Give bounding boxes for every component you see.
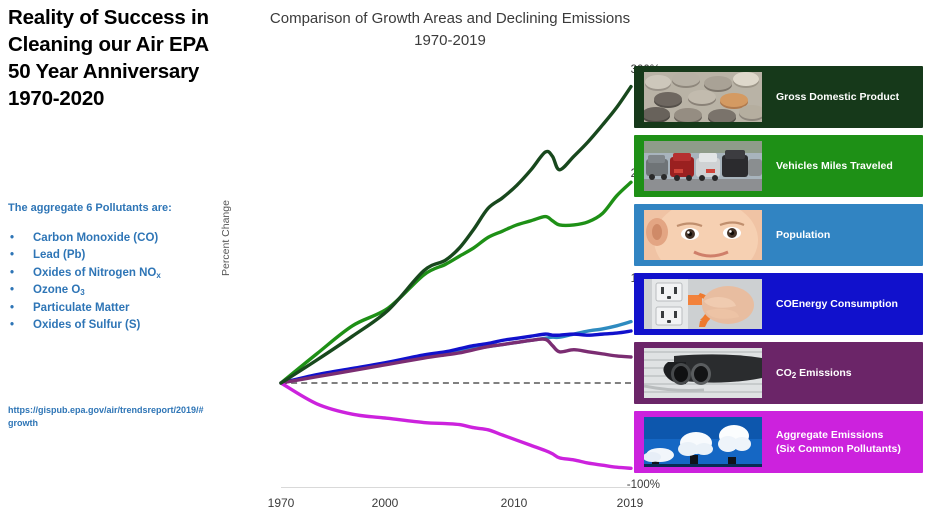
bullet-icon: •	[10, 282, 14, 299]
x-tick-2019: 2019	[600, 496, 660, 510]
legend-label: Gross Domestic Product	[776, 90, 899, 104]
legend-label: Vehicles Miles Traveled	[776, 159, 893, 173]
traffic-photo-icon	[644, 141, 762, 191]
legend-item-co2[interactable]: CO2 Emissions	[634, 342, 923, 404]
x-tick-2000: 2000	[355, 496, 415, 510]
exhaust-photo-icon	[644, 348, 762, 398]
x-tick-1970: 1970	[251, 496, 311, 510]
chart-plot	[200, 0, 660, 528]
list-item-label: Particulate Matter	[33, 302, 130, 314]
source-url-link[interactable]: https://gispub.epa.gov/air/trendsreport/…	[8, 404, 208, 430]
coins-photo-icon	[644, 72, 762, 122]
bullet-icon: •	[10, 265, 14, 282]
list-item-label: Ozone O3	[33, 284, 85, 296]
plug-photo-icon	[644, 279, 762, 329]
list-item-label: Oxides of Nitrogen NOx	[33, 267, 161, 279]
chart-legend: Gross Domestic Product	[634, 66, 923, 480]
legend-label: COEnergy Consumption	[776, 297, 898, 311]
legend-item-gdp[interactable]: Gross Domestic Product	[634, 66, 923, 128]
bullet-icon: •	[10, 247, 14, 264]
list-item-label: Lead (Pb)	[33, 249, 85, 261]
legend-label: CO2 Emissions	[776, 366, 852, 380]
list-item-label: Carbon Monoxide (CO)	[33, 232, 158, 244]
series-line	[281, 383, 631, 468]
bullet-icon: •	[10, 230, 14, 247]
bullet-icon: •	[10, 317, 14, 334]
legend-label: Aggregate Emissions (Six Common Pollutan…	[776, 428, 901, 456]
smokestack-photo-icon	[644, 417, 762, 467]
series-line	[281, 339, 631, 383]
x-tick-2010: 2010	[484, 496, 544, 510]
list-item-label: Oxides of Sulfur (S)	[33, 319, 140, 331]
legend-item-vmt[interactable]: Vehicles Miles Traveled	[634, 135, 923, 197]
baby-photo-icon	[644, 210, 762, 260]
bullet-icon: •	[10, 300, 14, 317]
legend-label-line1: Aggregate Emissions	[776, 428, 901, 442]
legend-item-aggregate-emissions[interactable]: Aggregate Emissions (Six Common Pollutan…	[634, 411, 923, 473]
legend-item-energy[interactable]: COEnergy Consumption	[634, 273, 923, 335]
chart-container: Comparison of Growth Areas and Declining…	[200, 0, 660, 528]
legend-item-population[interactable]: Population	[634, 204, 923, 266]
legend-label-line2: (Six Common Pollutants)	[776, 442, 901, 456]
legend-label: Population	[776, 228, 830, 242]
